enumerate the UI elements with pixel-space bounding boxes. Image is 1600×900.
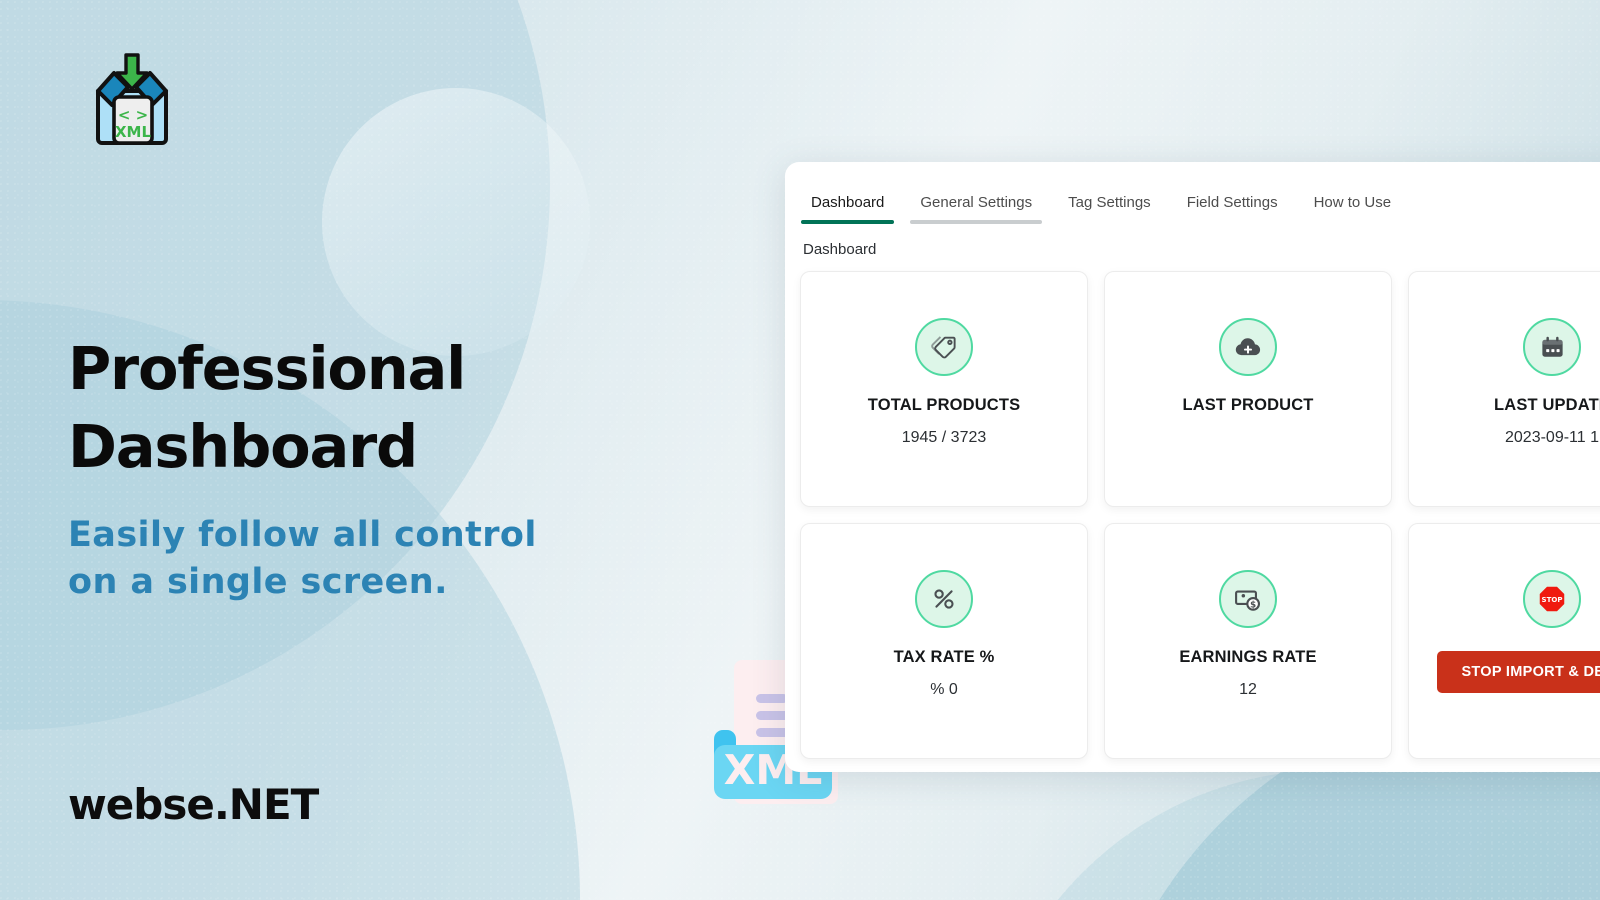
tab-dashboard-label: Dashboard: [811, 194, 884, 211]
tab-field-settings-label: Field Settings: [1187, 194, 1278, 211]
hero-subtitle-line2: on a single screen.: [68, 559, 708, 606]
xml-import-box-icon: XML < >: [84, 47, 180, 151]
hero-title-line1: Professional: [68, 330, 708, 408]
tab-how-to-use[interactable]: How to Use: [1296, 194, 1410, 224]
svg-text:STOP: STOP: [1542, 596, 1563, 604]
webse-net-wordmark: webse.NET: [68, 780, 318, 829]
card-last-product-title: LAST PRODUCT: [1182, 396, 1313, 415]
card-tax-rate-title: TAX RATE %: [894, 648, 995, 667]
tab-field-settings[interactable]: Field Settings: [1169, 194, 1296, 224]
tab-dashboard[interactable]: Dashboard: [793, 194, 902, 224]
svg-text:XML: XML: [115, 123, 151, 141]
card-last-update-title: LAST UPDATE: [1494, 396, 1600, 415]
card-total-products-title: TOTAL PRODUCTS: [868, 396, 1020, 415]
card-earnings-rate[interactable]: $ EARNINGS RATE 12: [1104, 523, 1392, 759]
calendar-icon: [1523, 318, 1581, 376]
tab-bar: Dashboard General Settings Tag Settings …: [785, 174, 1600, 224]
card-total-products-value: 1945 / 3723: [902, 429, 987, 447]
card-last-product[interactable]: LAST PRODUCT: [1104, 271, 1392, 507]
card-earnings-rate-title: EARNINGS RATE: [1179, 648, 1316, 667]
screenshot-root: XML < > Professional Dashboard Easily fo…: [0, 0, 1600, 900]
tab-general-settings-label: General Settings: [920, 194, 1032, 211]
card-tax-rate[interactable]: TAX RATE % % 0: [800, 523, 1088, 759]
hero-subtitle-line1: Easily follow all control: [68, 512, 708, 559]
tab-how-to-use-label: How to Use: [1314, 194, 1392, 211]
card-stop-import[interactable]: STOP STOP IMPORT & DELETE: [1408, 523, 1600, 759]
svg-text:$: $: [1250, 601, 1256, 611]
breadcrumb: Dashboard: [785, 224, 1600, 258]
tab-tag-settings-label: Tag Settings: [1068, 194, 1151, 211]
tab-tag-settings[interactable]: Tag Settings: [1050, 194, 1169, 224]
svg-text:< >: < >: [118, 106, 148, 124]
card-earnings-rate-value: 12: [1239, 681, 1257, 699]
tab-general-settings[interactable]: General Settings: [902, 194, 1050, 224]
percent-icon: [915, 570, 973, 628]
stop-sign-icon: STOP: [1523, 570, 1581, 628]
price-tag-icon: [915, 318, 973, 376]
stat-card-grid: TOTAL PRODUCTS 1945 / 3723 LAST PRODUCT: [785, 258, 1600, 759]
card-last-update[interactable]: LAST UPDATE 2023-09-11 1: [1408, 271, 1600, 507]
hero-title-line2: Dashboard: [68, 408, 708, 486]
money-dollar-icon: $: [1219, 570, 1277, 628]
tab-dashboard-underline: [801, 220, 894, 224]
stop-import-delete-button[interactable]: STOP IMPORT & DELETE: [1437, 651, 1600, 693]
card-last-update-value: 2023-09-11 1: [1505, 429, 1599, 447]
dashboard-panel: Dashboard General Settings Tag Settings …: [785, 162, 1600, 772]
card-tax-rate-value: % 0: [930, 681, 958, 699]
hero-copy: Professional Dashboard Easily follow all…: [68, 330, 708, 606]
tab-general-settings-underline: [910, 220, 1042, 224]
cloud-upload-icon: [1219, 318, 1277, 376]
background-circle-top: [322, 88, 590, 356]
card-total-products[interactable]: TOTAL PRODUCTS 1945 / 3723: [800, 271, 1088, 507]
